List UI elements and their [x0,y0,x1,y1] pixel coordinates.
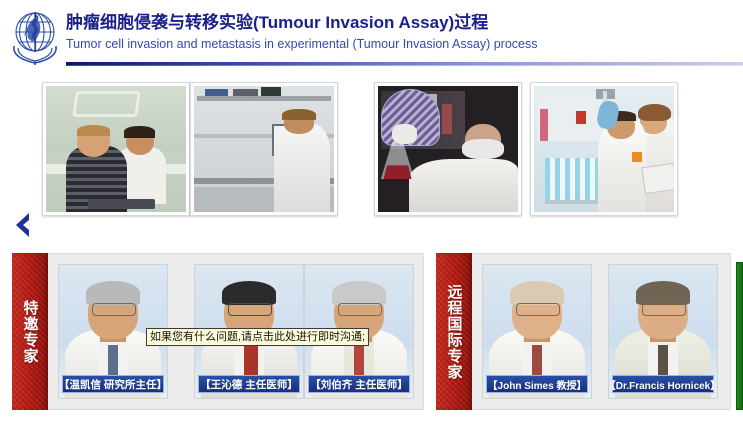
expert-card-caption: 【温凯信 研究所主任】 [62,375,164,393]
photo-carousel [0,72,743,232]
international-experts-banner: 远程国际专家 [436,253,472,410]
carousel-photo-2[interactable] [190,82,338,216]
expert-card-caption: 【Dr.Francis Hornicek】 [612,375,714,393]
carousel-prev-arrow-icon[interactable] [8,209,36,241]
page-title-block: 肿瘤细胞侵袭与转移实验(Tumour Invasion Assay)过程 Tum… [66,12,666,53]
invited-experts-banner: 特邀专家 [12,253,48,410]
invited-experts-banner-label: 特邀专家 [21,300,40,364]
side-green-bar[interactable] [736,262,743,410]
page-title: 肿瘤细胞侵袭与转移实验(Tumour Invasion Assay)过程 [66,12,666,34]
expert-card-caption: 【王沁德 主任医师】 [198,375,300,393]
header-divider-secondary [66,65,743,66]
carousel-photo-4[interactable] [530,82,678,216]
expert-card-caption: 【刘伯齐 主任医师】 [308,375,410,393]
expert-card[interactable]: 【Dr.Francis Hornicek】 [608,264,718,399]
expert-card[interactable]: 【John Simes 教授】 [482,264,592,399]
page-subtitle: Tumor cell invasion and metastasis in ex… [66,35,666,53]
who-emblem-icon [6,6,64,66]
expert-card-caption: 【John Simes 教授】 [486,375,588,393]
live-chat-tooltip[interactable]: 如果您有什么问题,请点击此处进行即时沟通; [146,328,369,346]
carousel-photo-1[interactable] [42,82,190,216]
international-experts-banner-label: 远程国际专家 [445,284,464,380]
page-header: 肿瘤细胞侵袭与转移实验(Tumour Invasion Assay)过程 Tum… [0,0,743,72]
carousel-photo-3[interactable] [374,82,522,216]
experts-section: 特邀专家 远程国际专家 【温凯信 研究所主任】 【王沁德 主任医师】 [0,253,743,410]
page-root: 肿瘤细胞侵袭与转移实验(Tumour Invasion Assay)过程 Tum… [0,0,743,423]
